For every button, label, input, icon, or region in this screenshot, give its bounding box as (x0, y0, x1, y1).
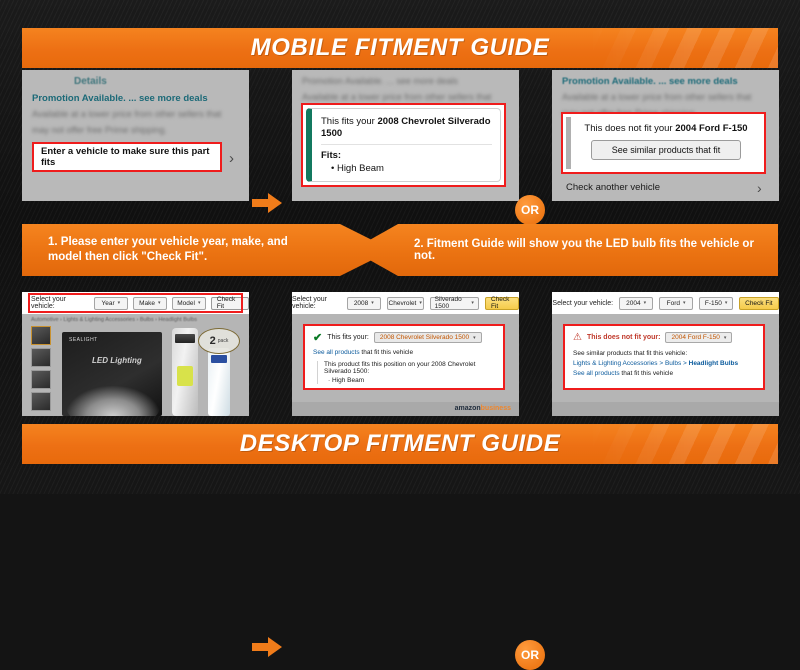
panel-footer (552, 402, 779, 416)
check-fit-button[interactable]: Check Fit (485, 297, 519, 310)
make-value: Chevrolet (389, 300, 417, 307)
desktop-fitment-banner: DESKTOP FITMENT GUIDE (22, 424, 778, 464)
model-dropdown[interactable]: Silverado 1500▾ (430, 297, 479, 310)
selector-highlight (28, 293, 243, 313)
chevron-down-icon: ▾ (725, 300, 728, 306)
see-all-products-rest: that fit this vehicle (620, 370, 673, 377)
amazon-business-suffix: business (481, 405, 511, 412)
fits-label: Fits: (321, 150, 492, 161)
fits-headline-row: ✔ This fits your: 2008 Chevrolet Silvera… (305, 326, 503, 343)
product-box-image: SEALIGHT LED Lighting (62, 332, 162, 416)
nofit-headline: This does not fit your 2004 Ford F-150 (580, 123, 752, 134)
arrow-right-icon-1 (250, 191, 284, 215)
nofit-callout-highlight: This does not fit your 2004 Ford F-150 S… (561, 112, 766, 174)
arrow-right-icon-2 (250, 635, 284, 659)
nofit-vehicle: 2004 Ford F-150 (675, 123, 747, 134)
pack-badge: 2 pack (198, 328, 240, 354)
chevron-down-icon: ▾ (683, 300, 686, 306)
chevron-down-icon: ▾ (473, 335, 476, 341)
year-dropdown[interactable]: 2008▾ (347, 297, 381, 310)
step-1-chevron: 1. Please enter your vehicle year, make,… (22, 224, 392, 276)
mobile-fitment-banner: MOBILE FITMENT GUIDE (22, 28, 778, 68)
chevron-down-icon: ▾ (371, 300, 374, 306)
nofit-headline-row: ⚠ This does not fit your: 2004 Ford F-15… (565, 326, 763, 343)
fits-headline: This fits your 2008 Chevrolet Silverado … (321, 116, 492, 139)
year-value: 2008 (354, 300, 368, 307)
fits-card: This fits your 2008 Chevrolet Silverado … (306, 108, 501, 182)
breadcrumb: Automotive › Lights & Lighting Accessori… (31, 317, 197, 323)
product-brand: SEALIGHT (69, 337, 162, 343)
chevron-down-icon: ▾ (644, 300, 647, 306)
thumbnail-2[interactable] (31, 348, 51, 367)
or-badge-desktop: OR (515, 640, 545, 670)
category-path: Lights & Lighting Accessories > Bulbs > (573, 360, 689, 367)
fits-callout-highlight: This fits your 2008 Chevrolet Silverado … (301, 103, 506, 187)
see-all-products-link[interactable]: See all products (313, 349, 360, 356)
desktop-panel-does-not-fit: Select your vehicle: 2004▾ Ford▾ F-150▾ … (552, 292, 779, 416)
check-another-vehicle-link[interactable]: Check another vehicle (566, 182, 660, 193)
model-dropdown[interactable]: F-150▾ (699, 297, 733, 310)
divider (321, 144, 492, 145)
nofit-label: This does not fit your: (587, 334, 661, 341)
car-illustration (66, 386, 160, 416)
desktop-panel-fits: Select your vehicle: 2008▾ Chevrolet▾ Si… (292, 292, 519, 416)
year-dropdown[interactable]: 2004▾ (619, 297, 653, 310)
fit-position-block: This product fits this position on your … (317, 361, 495, 384)
nofit-result-card: ⚠ This does not fit your: 2004 Ford F-15… (563, 324, 765, 390)
blurred-offer-line-2: may not offer free Prime shipping. (32, 125, 239, 136)
mobile-panel-enter-vehicle: Details Promotion Available. ... see mor… (22, 70, 249, 201)
select-vehicle-label: Select your vehicle: (292, 296, 341, 310)
see-all-products-row[interactable]: See all products that fit this vehicle (305, 343, 503, 356)
amazon-wordmark: amazon (455, 405, 481, 412)
step-2-text: 2. Fitment Guide will show you the LED b… (352, 238, 778, 262)
mobile-panel-fits: Promotion Available. ... see more deals … (292, 70, 519, 201)
blurred-offer-line-1: Available at a lower price from other se… (562, 92, 769, 103)
selected-vehicle-dropdown[interactable]: 2008 Chevrolet Silverado 1500▾ (374, 332, 482, 343)
warning-triangle-icon: ⚠ (573, 333, 582, 343)
step-2-chevron: 2. Fitment Guide will show you the LED b… (352, 224, 778, 276)
blurred-promotion: Promotion Available. ... see more deals (302, 76, 509, 87)
pack-count: 2 (210, 335, 216, 347)
thumbnail-1[interactable] (31, 326, 51, 345)
check-fit-button[interactable]: Check Fit (739, 297, 778, 310)
selected-vehicle-value: 2008 Chevrolet Silverado 1500 (380, 334, 469, 341)
fitment-guide-page: MOBILE FITMENT GUIDE Details Promotion A… (0, 0, 800, 494)
details-heading: Details (32, 74, 239, 87)
instruction-banner: 1. Please enter your vehicle year, make,… (22, 224, 778, 276)
fits-prefix: This fits your (321, 116, 378, 127)
enter-vehicle-cta[interactable]: Enter a vehicle to make sure this part f… (32, 142, 222, 172)
see-all-products-link[interactable]: See all products (573, 370, 620, 377)
fit-position-item: · High Beam (328, 377, 495, 384)
chevron-right-icon[interactable]: › (757, 180, 762, 196)
selected-vehicle-dropdown[interactable]: 2004 Ford F-150▾ (665, 332, 732, 343)
thumbnail-4[interactable] (31, 392, 51, 411)
product-label: LED Lighting (92, 356, 162, 365)
fit-position-text: This product fits this position on your … (324, 361, 495, 375)
make-dropdown[interactable]: Ford▾ (659, 297, 693, 310)
promotion-text: Promotion Available. ... see more deals (32, 93, 239, 104)
chevron-right-icon[interactable]: › (229, 150, 234, 167)
category-last[interactable]: Headlight Bulbs (689, 360, 738, 367)
mobile-screenshot-row: Details Promotion Available. ... see mor… (0, 70, 800, 205)
make-dropdown[interactable]: Chevrolet▾ (387, 297, 424, 310)
vehicle-selector-bar: Select your vehicle: 2008▾ Chevrolet▾ Si… (292, 292, 519, 314)
see-similar-products-button[interactable]: See similar products that fit (591, 140, 741, 160)
mobile-panel-does-not-fit: Promotion Available. ... see more deals … (552, 70, 779, 201)
model-value: Silverado 1500 (435, 296, 469, 310)
checkmark-icon: ✔ (313, 333, 322, 343)
see-all-products-row[interactable]: See all products that fit this vehicle (565, 367, 763, 377)
year-value: 2004 (626, 300, 640, 307)
desktop-panel-select-vehicle: Select your vehicle: Year▾ Make▾ Model▾ … (22, 292, 249, 416)
nofit-prefix: This does not fit your (584, 123, 675, 134)
vehicle-selector-bar: Select your vehicle: 2004▾ Ford▾ F-150▾ … (552, 292, 779, 314)
pack-word: pack (218, 338, 229, 344)
fits-label: This fits your: (327, 334, 369, 341)
see-all-products-rest: that fit this vehicle (360, 349, 413, 356)
nofit-card: This does not fit your 2004 Ford F-150 S… (566, 117, 761, 169)
selected-vehicle-value: 2004 Ford F-150 (671, 334, 719, 341)
step-1-text: 1. Please enter your vehicle year, make,… (22, 235, 312, 265)
promotion-text: Promotion Available. ... see more deals (562, 76, 769, 87)
category-breadcrumb-link[interactable]: Lights & Lighting Accessories > Bulbs > … (565, 357, 763, 367)
or-label: OR (521, 203, 539, 217)
led-bulb-image-2 (208, 348, 230, 416)
amazon-logo: amazonbusiness (455, 405, 511, 412)
fits-item: • High Beam (331, 163, 492, 174)
desktop-banner-title: DESKTOP FITMENT GUIDE (240, 430, 561, 458)
thumbnail-strip[interactable] (31, 326, 51, 414)
fits-result-card: ✔ This fits your: 2008 Chevrolet Silvera… (303, 324, 505, 390)
chevron-down-icon: ▾ (419, 300, 422, 306)
blurred-offer-line-1: Available at a lower price from other se… (302, 92, 509, 103)
chevron-down-icon: ▾ (724, 335, 727, 341)
model-value: F-150 (705, 300, 722, 307)
make-value: Ford (667, 300, 680, 307)
led-bulb-image-1 (172, 328, 198, 416)
or-label: OR (521, 648, 539, 662)
select-vehicle-label: Select your vehicle: (552, 300, 613, 307)
enter-vehicle-cta-label: Enter a vehicle to make sure this part f… (41, 146, 213, 168)
mobile-banner-title: MOBILE FITMENT GUIDE (251, 34, 550, 62)
or-badge-mobile: OR (515, 195, 545, 225)
chevron-down-icon: ▾ (471, 300, 474, 306)
blurred-offer-line-1: Available at a lower price from other se… (32, 109, 239, 120)
desktop-screenshot-row: Select your vehicle: Year▾ Make▾ Model▾ … (0, 292, 800, 418)
see-similar-text: See similar products that fit this vehic… (565, 343, 763, 357)
thumbnail-3[interactable] (31, 370, 51, 389)
